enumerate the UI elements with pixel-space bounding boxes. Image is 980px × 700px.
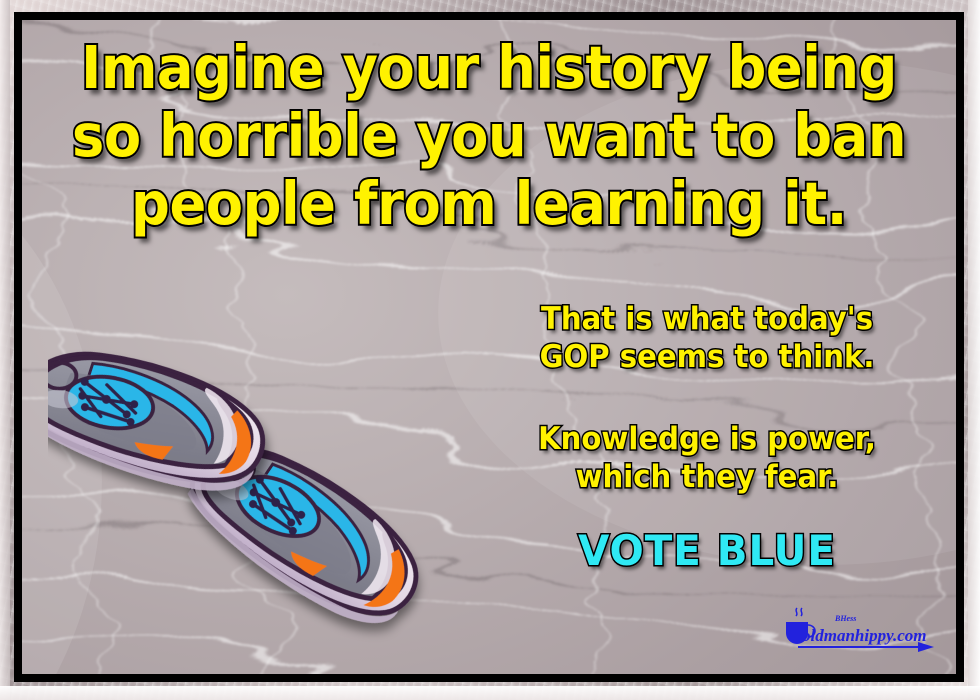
headline-line-2: so horrible you want to ban [59, 102, 918, 170]
message-block-gop: That is what today's GOP seems to think. [486, 300, 928, 376]
poster-image: Imagine your history being so horrible y… [0, 0, 980, 700]
knowledge-line-2: which they fear. [486, 458, 928, 496]
spacer [472, 376, 942, 420]
frame-bevel-left [0, 0, 10, 700]
knowledge-line-1: Knowledge is power, [486, 420, 928, 458]
headline-text: Imagine your history being so horrible y… [59, 34, 918, 238]
gop-line-2: GOP seems to think. [486, 338, 928, 376]
message-column: That is what today's GOP seems to think.… [472, 300, 942, 576]
message-block-knowledge: Knowledge is power, which they fear. [486, 420, 928, 496]
sneakers-illustration [48, 300, 478, 674]
sneaker-left [48, 330, 276, 509]
call-to-action-text: VOTE BLUE [481, 526, 932, 576]
frame-bevel-bottom [0, 686, 980, 700]
headline-line-3: people from learning it. [59, 170, 918, 238]
gop-line-1: That is what today's [486, 300, 928, 338]
spacer [472, 496, 942, 526]
headline-line-1: Imagine your history being [59, 34, 918, 102]
poster-canvas: Imagine your history being so horrible y… [22, 20, 956, 674]
watermark-signature: BHess [834, 614, 856, 623]
frame-bevel-right [968, 0, 980, 700]
watermark-oldmanhippy[interactable]: BHess oldmanhippy.com [778, 596, 938, 658]
watermark-site[interactable]: oldmanhippy.com [802, 626, 927, 645]
